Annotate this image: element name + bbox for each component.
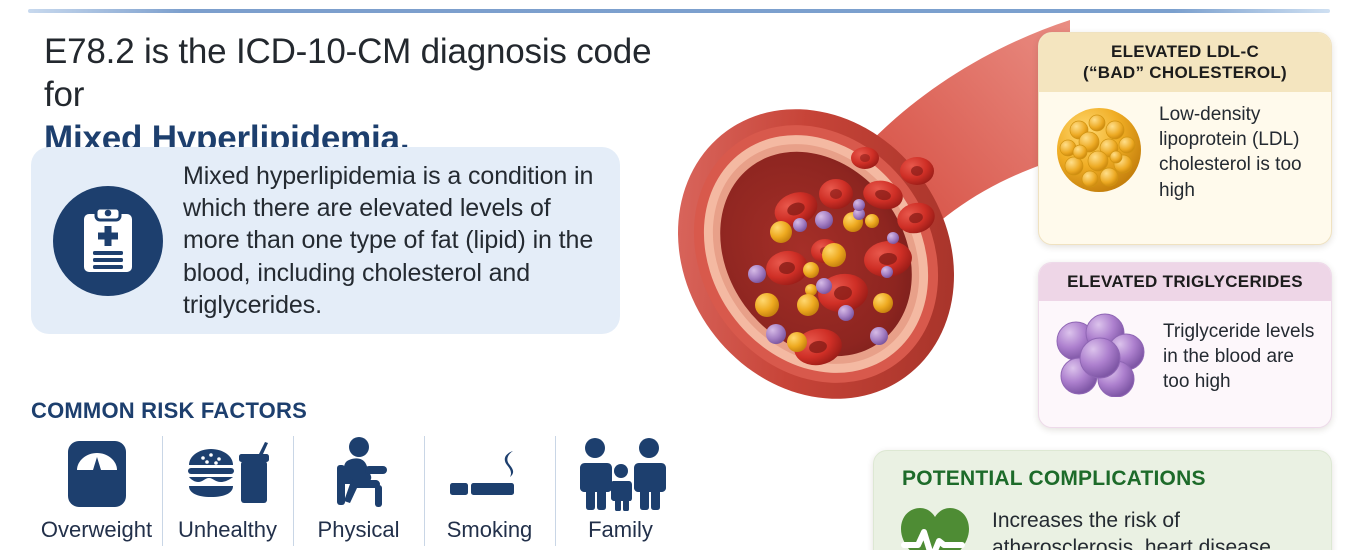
triglyceride-particle: [881, 266, 893, 278]
red-blood-cell: [851, 147, 879, 169]
triglyceride-particle: [815, 211, 833, 229]
risk-factor-family-history: Family: [555, 432, 686, 550]
triglyceride-particle: [816, 278, 832, 294]
elevated-triglycerides-card: ELEVATED TRIGLYCERIDES: [1038, 262, 1332, 428]
ldl-card-header-line1: ELEVATED LDL-C: [1049, 42, 1321, 63]
risk-factors-row: Overweight: [31, 432, 686, 550]
cigarette-icon: [448, 438, 532, 510]
risk-factor-overweight: Overweight: [31, 432, 162, 550]
ldl-particle: [865, 214, 879, 228]
complications-card-header: POTENTIAL COMPLICATIONS: [874, 451, 1331, 491]
page-title: E78.2 is the ICD-10-CM diagnosis code fo…: [44, 30, 684, 160]
triglycerides-card-header: ELEVATED TRIGLYCERIDES: [1039, 263, 1331, 301]
risk-factor-label: Unhealthy: [178, 518, 277, 543]
risk-factor-unhealthy-diet: Unhealthy: [162, 432, 293, 550]
risk-factor-smoking: Smoking: [424, 432, 555, 550]
ldl-particle: [803, 262, 819, 278]
blood-vessel-illustration: [640, 6, 1070, 446]
ldl-card-text: Low-density lipoprotein (LDL) cholestero…: [1159, 102, 1317, 203]
risk-factor-label: Overweight: [41, 518, 152, 543]
fast-food-icon: [185, 438, 271, 510]
risk-factor-physical-inactivity: Physical: [293, 432, 424, 550]
ldl-card-header: ELEVATED LDL-C (“BAD” CHOLESTEROL): [1039, 33, 1331, 92]
triglyceride-particle: [887, 232, 899, 244]
ldl-particle: [755, 293, 779, 317]
triglycerides-card-text: Triglyceride levels in the blood are too…: [1163, 319, 1317, 395]
triglyceride-particle: [748, 265, 766, 283]
ldl-particle: [822, 243, 846, 267]
weight-scale-icon: [64, 438, 130, 510]
red-blood-cell: [900, 157, 934, 185]
triglyceride-particle: [870, 327, 888, 345]
complications-card-body: Increases the risk of atherosclerosis, h…: [874, 491, 1331, 550]
triglyceride-particle: [853, 199, 865, 211]
definition-card: Mixed hyperlipidemia is a condition in w…: [31, 147, 620, 334]
ldl-particle: [873, 293, 893, 313]
elevated-ldl-card: ELEVATED LDL-C (“BAD” CHOLESTEROL): [1038, 32, 1332, 245]
ldl-particle: [770, 221, 792, 243]
ldl-particle: [787, 332, 807, 352]
sitting-person-icon: [323, 438, 395, 510]
heart-pulse-icon: [896, 503, 974, 550]
definition-text: Mixed hyperlipidemia is a condition in w…: [183, 160, 598, 321]
ldl-particle-icon: [1053, 104, 1145, 201]
clipboard-medical-icon: [53, 186, 163, 296]
triglycerides-card-body: Triglyceride levels in the blood are too…: [1039, 301, 1331, 414]
risk-factor-label: Family: [588, 518, 653, 543]
icd-code: E78.2: [44, 32, 134, 71]
family-icon: [575, 438, 667, 510]
complications-card-text: Increases the risk of atherosclerosis, h…: [992, 503, 1313, 550]
risk-factors-title: COMMON RISK FACTORS: [31, 398, 307, 424]
risk-factor-label: Physical: [318, 518, 400, 543]
ldl-card-body: Low-density lipoprotein (LDL) cholestero…: [1039, 92, 1331, 215]
triglyceride-particle: [793, 218, 807, 232]
infographic-canvas: E78.2 is the ICD-10-CM diagnosis code fo…: [0, 0, 1370, 550]
potential-complications-card: POTENTIAL COMPLICATIONS Increases the ri…: [873, 450, 1332, 550]
triglyceride-cluster-icon: [1053, 311, 1149, 402]
red-blood-cell: [819, 179, 853, 209]
headline-middle-text: is the ICD-10-CM diagnosis code for: [44, 32, 651, 114]
ldl-particle: [797, 294, 819, 316]
triglyceride-particle: [838, 305, 854, 321]
ldl-card-header-line2: (“BAD” CHOLESTEROL): [1049, 63, 1321, 84]
risk-factor-label: Smoking: [447, 518, 533, 543]
triglyceride-particle: [766, 324, 786, 344]
